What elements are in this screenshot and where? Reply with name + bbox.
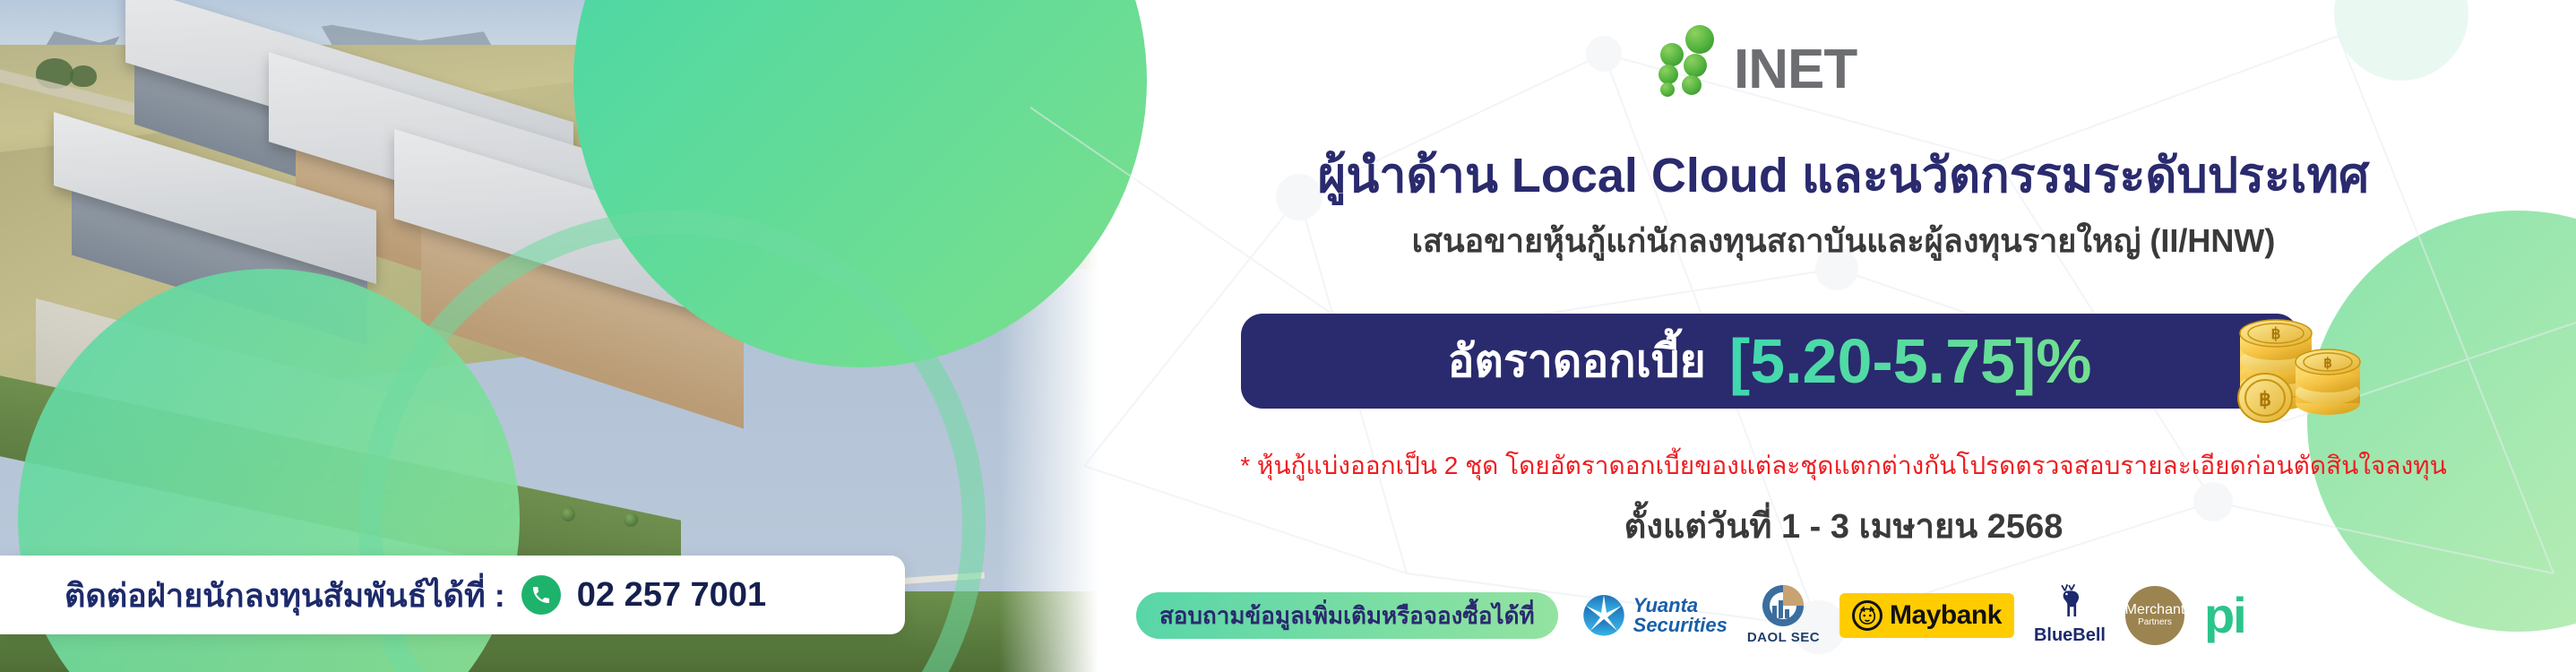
yuanta-star-icon bbox=[1581, 593, 1626, 638]
inet-logo-text: INET bbox=[1734, 46, 1857, 93]
svg-text:฿: ฿ bbox=[2323, 356, 2332, 371]
yuanta-line-1: Yuanta bbox=[1633, 596, 1727, 616]
promotional-banner: ติดต่อฝ่ายนักลงทุนสัมพันธ์ได้ที่ : 02 25… bbox=[0, 0, 2576, 672]
page-title: ผู้นำด้าน Local Cloud และนวัตกรรมระดับปร… bbox=[1111, 136, 2576, 213]
content-panel: INET ผู้นำด้าน Local Cloud และนวัตกรรมระ… bbox=[1111, 0, 2576, 672]
interest-rate-label: อัตราดอกเบี้ย bbox=[1448, 326, 1706, 397]
inet-dots-icon bbox=[1658, 23, 1732, 93]
broker-logo-pi[interactable]: pi bbox=[2204, 582, 2245, 649]
merchant-line-1: Merchant bbox=[2125, 603, 2185, 618]
offer-period: ตั้งแต่วันที่ 1 - 3 เมษายน 2568 bbox=[1111, 498, 2576, 553]
svg-text:฿: ฿ bbox=[2271, 325, 2281, 342]
inet-logo: INET bbox=[1658, 23, 1945, 93]
broker-logo-yuanta[interactable]: Yuanta Securities bbox=[1581, 582, 1727, 649]
disclaimer-note: * หุ้นกู้แบ่งออกเป็น 2 ชุด โดยอัตราดอกเบ… bbox=[1111, 446, 2576, 486]
pi-wordmark-icon: pi bbox=[2204, 596, 2245, 636]
investor-relations-contact[interactable]: ติดต่อฝ่ายนักลงทุนสัมพันธ์ได้ที่ : 02 25… bbox=[0, 556, 905, 634]
broker-logo-maybank[interactable]: Maybank bbox=[1839, 582, 2014, 649]
broker-logo-list: Yuanta Securities bbox=[1581, 582, 2245, 649]
bluebell-deer-icon bbox=[2047, 582, 2092, 625]
contact-label: ติดต่อฝ่ายนักลงทุนสัมพันธ์ได้ที่ : bbox=[65, 570, 505, 621]
daol-wordmark: DAOL SEC bbox=[1747, 630, 1820, 645]
interest-rate-value: [5.20-5.75]% bbox=[1729, 325, 2092, 397]
broker-logo-bluebell[interactable]: BlueBell bbox=[2034, 582, 2106, 649]
maybank-wordmark: Maybank bbox=[1890, 600, 2002, 631]
merchant-circle-icon: Merchant Partners bbox=[2125, 586, 2184, 645]
contact-phone-number[interactable]: 02 257 7001 bbox=[577, 576, 766, 615]
interest-rate-block: อัตราดอกเบี้ย [5.20-5.75]% bbox=[1241, 314, 2343, 412]
yuanta-wordmark: Yuanta Securities bbox=[1633, 596, 1727, 636]
cta-and-brokers-row: สอบถามข้อมูลเพิ่มเติมหรือจองซื้อได้ที่ bbox=[1111, 581, 2576, 650]
daol-circle-icon bbox=[1760, 582, 1806, 629]
svg-text:฿: ฿ bbox=[2259, 388, 2271, 410]
bluebell-wordmark: BlueBell bbox=[2034, 625, 2106, 646]
broker-logo-daol[interactable]: DAOL SEC bbox=[1747, 582, 1820, 649]
inquire-button[interactable]: สอบถามข้อมูลเพิ่มเติมหรือจองซื้อได้ที่ bbox=[1136, 592, 1558, 639]
maybank-tiger-icon bbox=[1852, 600, 1882, 631]
interest-rate-box: อัตราดอกเบี้ย [5.20-5.75]% bbox=[1241, 314, 2298, 409]
merchant-line-2: Partners bbox=[2138, 618, 2172, 628]
yuanta-line-2: Securities bbox=[1633, 616, 1727, 635]
phone-icon bbox=[521, 575, 561, 615]
broker-logo-merchant-partners[interactable]: Merchant Partners bbox=[2125, 582, 2184, 649]
page-subtitle: เสนอขายหุ้นกู้แก่นักลงทุนสถาบันและผู้ลงท… bbox=[1111, 215, 2576, 266]
gold-coins-icon: ฿ ฿ bbox=[2222, 297, 2370, 423]
